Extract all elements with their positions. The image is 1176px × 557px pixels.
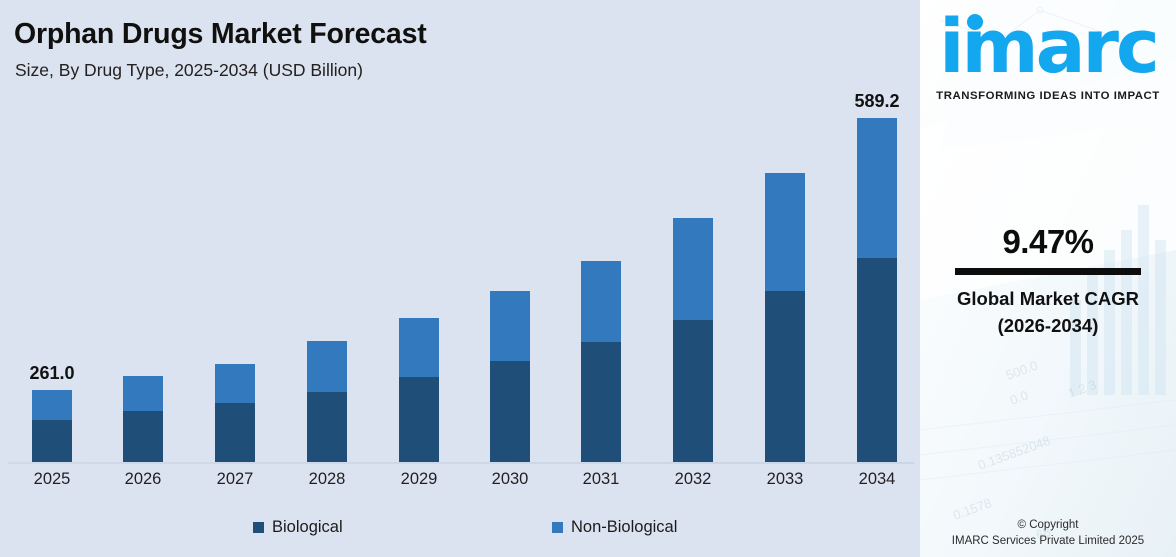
legend-swatch-icon [253, 522, 264, 533]
plot-area: 261.0589.2 20252026202720282029203020312… [0, 0, 920, 466]
bar-2028 [307, 341, 347, 462]
bar-segment-non-biological [673, 218, 713, 320]
x-tick-2028: 2028 [282, 470, 372, 489]
cagr-value: 9.47% [920, 222, 1176, 262]
chart-screenshot: Orphan Drugs Market Forecast Size, By Dr… [0, 0, 1176, 557]
bar-segment-biological [673, 320, 713, 462]
bar-segment-non-biological [307, 341, 347, 392]
legend-label: Non-Biological [571, 518, 677, 537]
bar-2031 [581, 261, 621, 462]
bar-segment-biological [765, 291, 805, 462]
bar-segment-non-biological [215, 364, 255, 403]
bar-value-label: 261.0 [29, 363, 74, 384]
bar-segment-non-biological [765, 173, 805, 291]
legend-swatch-icon [552, 522, 563, 533]
x-tick-2031: 2031 [556, 470, 646, 489]
bar-2030 [490, 291, 530, 462]
bar-segment-biological [857, 258, 897, 462]
brand-panel: 500.0 0.0 1 2 3 0.135852048 0.1578 68 im… [920, 0, 1176, 557]
bar-segment-non-biological [32, 390, 72, 420]
axis-baseline [8, 462, 914, 464]
bar-segment-non-biological [490, 291, 530, 361]
bar-2032 [673, 218, 713, 462]
bar-2026 [123, 376, 163, 462]
bar-2034: 589.2 [857, 118, 897, 462]
legend-item-biological[interactable]: Biological [253, 518, 343, 537]
cagr-period: (2026-2034) [920, 312, 1176, 339]
bar-segment-biological [123, 411, 163, 462]
bar-segment-biological [581, 342, 621, 462]
chart-panel: Orphan Drugs Market Forecast Size, By Dr… [0, 0, 920, 557]
bar-2027 [215, 364, 255, 462]
cagr-divider [955, 268, 1141, 275]
x-tick-2029: 2029 [374, 470, 464, 489]
logo-tagline: TRANSFORMING IDEAS INTO IMPACT [936, 90, 1160, 102]
legend-label: Biological [272, 518, 343, 537]
bar-2029 [399, 318, 439, 462]
bar-segment-biological [215, 403, 255, 462]
bar-segment-biological [307, 392, 347, 462]
bar-segment-non-biological [857, 118, 897, 258]
bar-segment-non-biological [123, 376, 163, 411]
copyright-line-1: © Copyright [920, 517, 1176, 533]
bar-segment-biological [32, 420, 72, 462]
chart-legend: BiologicalNon-Biological [0, 518, 920, 544]
bar-value-label: 589.2 [854, 91, 899, 112]
x-tick-2033: 2033 [740, 470, 830, 489]
bar-segment-non-biological [581, 261, 621, 342]
bar-2033 [765, 173, 805, 462]
x-tick-2026: 2026 [98, 470, 188, 489]
x-tick-2034: 2034 [832, 470, 922, 489]
x-tick-2027: 2027 [190, 470, 280, 489]
x-tick-2032: 2032 [648, 470, 738, 489]
bar-segment-non-biological [399, 318, 439, 377]
cagr-caption: Global Market CAGR [920, 285, 1176, 312]
copyright-notice: © Copyright IMARC Services Private Limit… [920, 517, 1176, 549]
x-tick-2025: 2025 [7, 470, 97, 489]
copyright-line-2: IMARC Services Private Limited 2025 [920, 533, 1176, 549]
bar-segment-biological [399, 377, 439, 462]
legend-item-non-biological[interactable]: Non-Biological [552, 518, 677, 537]
imarc-logo: imarc TRANSFORMING IDEAS INTO IMPACT [920, 6, 1176, 110]
bar-segment-biological [490, 361, 530, 462]
bar-2025: 261.0 [32, 390, 72, 462]
logo-dot-icon [967, 14, 983, 30]
cagr-block: 9.47% Global Market CAGR (2026-2034) [920, 222, 1176, 339]
x-tick-2030: 2030 [465, 470, 555, 489]
